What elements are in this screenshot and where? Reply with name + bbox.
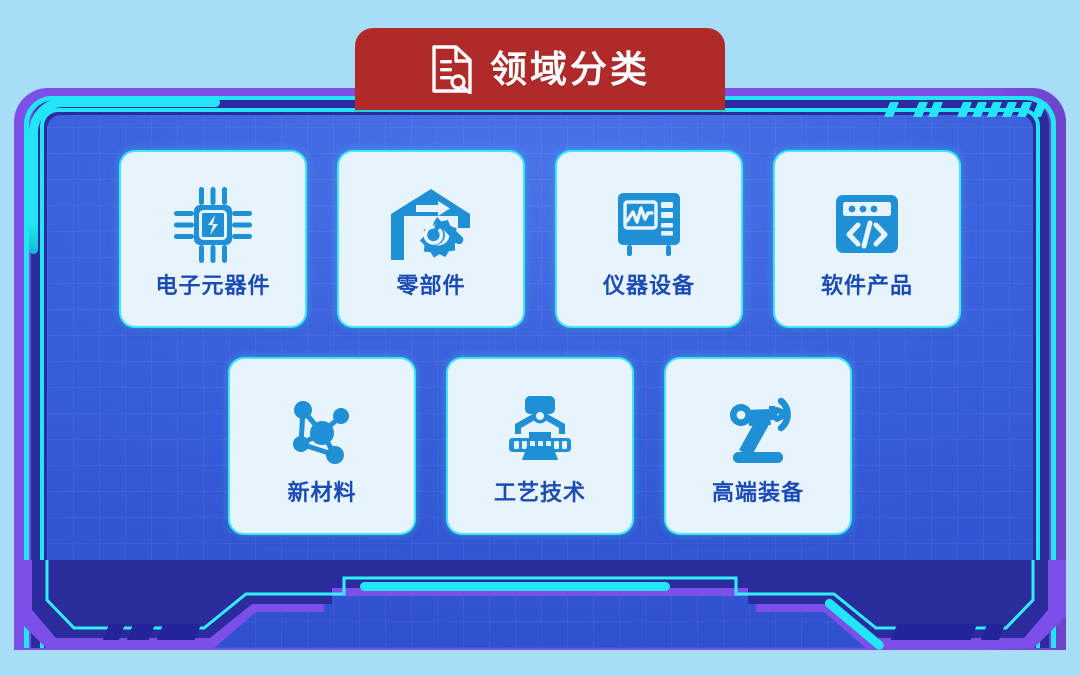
press-machine-icon bbox=[495, 388, 585, 476]
molecule-network-icon bbox=[277, 388, 367, 476]
category-card-new-materials[interactable]: 新材料 bbox=[230, 359, 414, 533]
category-label: 工艺技术 bbox=[494, 482, 586, 504]
warehouse-gear-wrench-icon bbox=[386, 181, 476, 269]
category-card-parts[interactable]: 零部件 bbox=[339, 152, 523, 326]
browser-code-icon bbox=[822, 181, 912, 269]
category-label: 新材料 bbox=[287, 482, 356, 504]
category-card-electronic-components[interactable]: 电子元器件 bbox=[121, 152, 305, 326]
title-banner: 领域分类 bbox=[355, 28, 725, 110]
page-title: 领域分类 bbox=[490, 51, 650, 88]
category-label: 高端装备 bbox=[712, 482, 804, 504]
category-card-instruments[interactable]: 仪器设备 bbox=[557, 152, 741, 326]
chip-bolt-icon bbox=[168, 181, 258, 269]
category-label: 电子元器件 bbox=[155, 275, 270, 297]
category-row-1: 电子元器件 零部件 bbox=[47, 152, 1033, 326]
category-label: 软件产品 bbox=[821, 275, 913, 297]
category-label: 仪器设备 bbox=[603, 275, 695, 297]
category-card-process-technology[interactable]: 工艺技术 bbox=[448, 359, 632, 533]
category-row-2: 新材料 bbox=[47, 359, 1033, 533]
oscilloscope-instrument-icon bbox=[604, 181, 694, 269]
category-card-high-end-equipment[interactable]: 高端装备 bbox=[666, 359, 850, 533]
infographic-stage: 领域分类 bbox=[0, 0, 1080, 676]
category-card-software[interactable]: 软件产品 bbox=[775, 152, 959, 326]
category-grid: 电子元器件 零部件 bbox=[47, 115, 1033, 648]
document-search-icon bbox=[430, 44, 476, 94]
robot-arm-icon bbox=[713, 388, 803, 476]
category-label: 零部件 bbox=[396, 275, 465, 297]
